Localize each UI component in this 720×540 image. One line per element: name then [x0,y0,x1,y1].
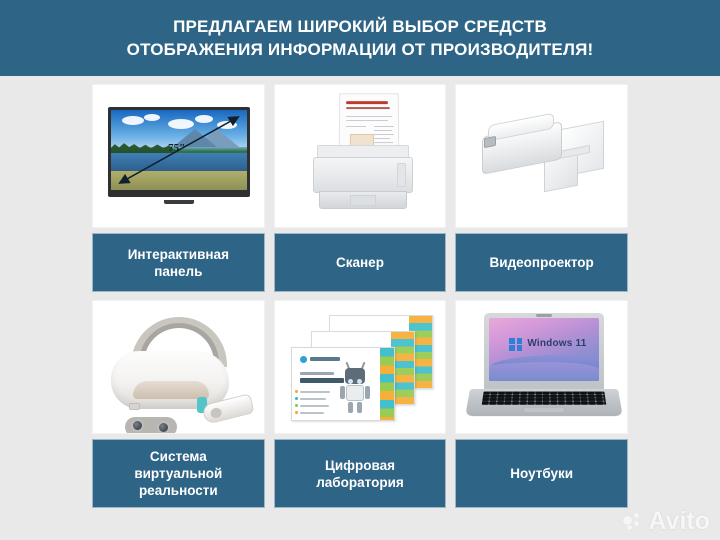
robot-eye [348,379,353,384]
header-line-2: ОТОБРАЖЕНИЯ ИНФОРМАЦИИ ОТ ПРОИЗВОДИТЕЛЯ! [127,38,594,61]
document-text-line [374,134,394,135]
robot-leg [348,402,353,413]
vr-face-pad [133,381,209,399]
product-card-projector[interactable]: Видеопроектор [455,84,628,292]
product-card-vr[interactable]: Система виртуальной реальности [92,300,265,508]
document-text-line [374,130,392,131]
vr-headset-illustration [105,317,255,421]
bullet-dot [295,397,298,400]
robot-head [345,368,365,384]
bullet-dot [295,390,298,393]
scanner-output-tray [319,191,407,209]
header-line-1: ПРЕДЛАГАЕМ ШИРОКИЙ ВЫБОР СРЕДСТВ [173,15,547,38]
vr-camera-icon [131,419,144,432]
robot-leg [357,402,362,413]
wallpaper-hill [489,362,599,381]
product-label-vr[interactable]: Система виртуальной реальности [92,439,265,508]
avito-wordmark: Avito [648,509,710,534]
laptop-base [466,389,624,416]
projector-illustration [478,107,608,199]
product-image-vr [92,300,265,434]
product-image-projector [455,84,628,228]
product-grid: 75" Интерактивная панель [92,84,628,508]
tray-notch [350,195,376,206]
product-label-laptop[interactable]: Ноутбуки [455,439,628,508]
poster-header: ПРЕДЛАГАЕМ ШИРОКИЙ ВЫБОР СРЕДСТВ ОТОБРАЖ… [0,0,720,76]
robot-arm [340,386,345,399]
product-card-scanner[interactable]: Сканер [274,84,447,292]
product-image-interactive-panel: 75" [92,84,265,228]
product-image-scanner [274,84,447,228]
product-label-projector[interactable]: Видеопроектор [455,233,628,292]
windows-logo-icon [509,338,522,351]
product-image-digital-lab [274,300,447,434]
product-label-scanner[interactable]: Сканер [274,233,447,292]
robot-torso [346,385,364,401]
vr-button [129,403,140,410]
tv-illustration: 75" [108,107,250,197]
document-text-line [346,116,392,117]
laptop-lid: Windows 11 [484,313,604,389]
document-text-line [374,142,393,143]
product-label-digital-lab[interactable]: Цифровая лаборатория [274,439,447,508]
document-text-line [346,126,366,127]
product-image-laptop: Windows 11 [455,300,628,434]
document-text-line [346,120,388,121]
bullet-line [300,391,330,393]
bullet-dot [295,404,298,407]
box-caption-line [300,372,334,375]
vr-camera-icon [157,421,170,434]
tv-stand [164,200,194,204]
product-card-interactive-panel[interactable]: 75" Интерактивная панель [92,84,265,292]
product-label-interactive-panel[interactable]: Интерактивная панель [92,233,265,292]
vr-visor [111,351,229,409]
document-text-line [374,126,394,127]
brand-logo-icon [300,356,307,363]
avito-dots-icon [623,513,643,531]
lab-box-front [291,347,395,421]
scanner-body [313,157,413,193]
product-card-digital-lab[interactable]: Цифровая лаборатория [274,300,447,508]
document-text-line [374,138,390,139]
document-title-line [346,101,388,104]
bullet-line [300,398,326,400]
brand-logo-text [310,357,340,361]
controller-touchpad [210,407,223,419]
robot-graphic [338,362,372,414]
laptop-illustration: Windows 11 [470,313,618,421]
tv-screen: 75" [111,110,247,190]
bullet-dot [295,411,298,414]
scanner-control-panel [397,163,406,187]
webcam-icon [536,314,552,317]
poster-root: ПРЕДЛАГАЕМ ШИРОКИЙ ВЫБОР СРЕДСТВ ОТОБРАЖ… [0,0,720,540]
laptop-screen: Windows 11 [489,318,599,381]
robot-eye [357,379,362,384]
bullet-line [300,412,324,414]
document-subtitle-line [346,107,390,109]
scanner-illustration [309,93,417,221]
bullet-line [300,405,329,407]
screen-size-label: 75" [168,142,185,154]
box-front-color-strip [380,348,394,420]
laptop-keyboard [482,392,607,405]
digital-lab-boxes-illustration [291,315,433,421]
product-card-laptop[interactable]: Windows 11 Ноутбуки [455,300,628,508]
windows-version-text: Windows 11 [527,338,586,349]
avito-watermark: Avito [623,509,710,534]
laptop-touchpad [523,407,565,414]
robot-arm [365,386,370,399]
